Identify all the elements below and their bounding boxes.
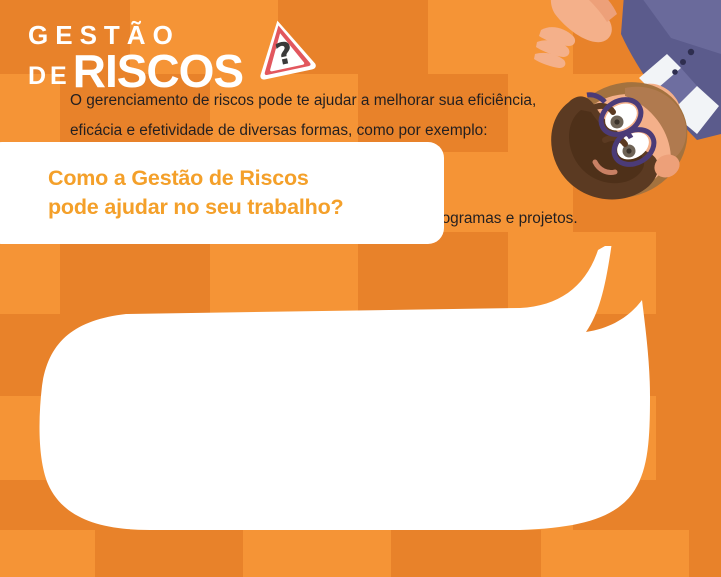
title-line-2: pode ajudar no seu trabalho? <box>48 193 444 222</box>
title-line-1: Como a Gestão de Riscos <box>48 164 444 193</box>
warning-triangle-question-icon: ? <box>248 12 319 81</box>
logo-gestao-de-riscos: GESTÃO DE RISCOS <box>28 22 243 92</box>
question-title-card: Como a Gestão de Riscos pode ajudar no s… <box>0 142 444 244</box>
logo-word-riscos: RISCOS <box>73 50 243 92</box>
logo-word-de: DE <box>28 64 71 89</box>
bubble-intro-line-2: eficácia e efetividade de diversas forma… <box>70 116 626 146</box>
infographic-slide: O gerenciamento de riscos pode te ajudar… <box>0 0 721 577</box>
speech-bubble <box>0 246 721 546</box>
